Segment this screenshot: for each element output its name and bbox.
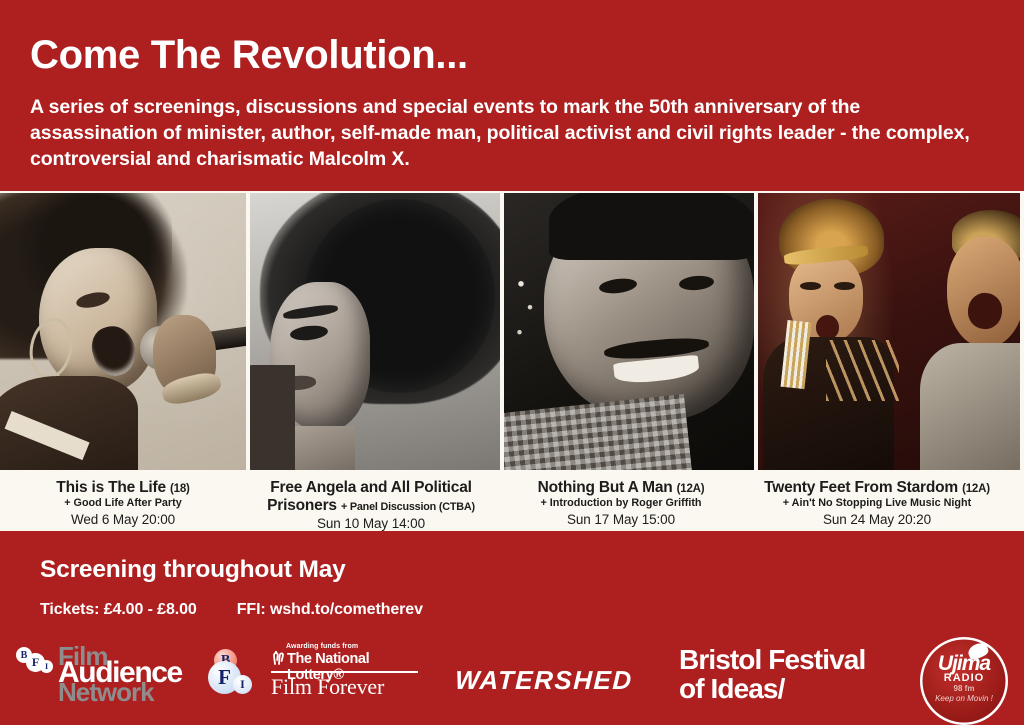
page-title: Come The Revolution...	[30, 34, 994, 76]
film-caption-4: Twenty Feet From Stardom (12A) + Ain't N…	[746, 479, 1008, 531]
bfi-blob-icon: B F I	[208, 649, 264, 699]
film-date-2: Sun 10 May 14:00	[252, 516, 490, 531]
film-extra-2: + Panel Discussion (CTBA)	[341, 501, 475, 513]
sponsor-logos: B F I Film Audience Network B F I Awardi…	[0, 637, 1024, 725]
bfi-blob-icon: B F I	[16, 647, 56, 675]
film-image-this-is-the-life[interactable]	[0, 193, 246, 470]
film-image-nothing-but-a-man[interactable]	[504, 193, 754, 470]
film-caption-2: Free Angela and All Political Prisoners …	[246, 479, 496, 531]
film-caption-3: Nothing But A Man (12A) + Introduction b…	[496, 479, 746, 531]
poster-footer: Screening throughout May Tickets: £4.00 …	[0, 531, 1024, 724]
film-certificate-4: (12A)	[962, 483, 990, 495]
film-images-row	[0, 191, 1024, 470]
fan-word-network: Network	[58, 679, 154, 705]
film-certificate-1: (18)	[170, 483, 190, 495]
film-strip: This is The Life (18) + Good Life After …	[0, 191, 1024, 531]
bfoi-line-2: of Ideas/	[679, 675, 865, 704]
film-extra-1: + Good Life After Party	[6, 497, 240, 510]
logo-bristol-festival-of-ideas[interactable]: Bristol Festival of Ideas/	[679, 646, 865, 704]
film-date-4: Sun 24 May 20:20	[752, 512, 1002, 527]
logo-ujima-radio[interactable]: Ujima RADIO 98 fm Keep on Movin !	[920, 637, 1008, 725]
photo-two-singers	[758, 193, 1020, 470]
page-subtitle: A series of screenings, discussions and …	[30, 95, 975, 173]
logo-watershed[interactable]: WATERSHED	[454, 665, 633, 696]
film-image-free-angela[interactable]	[250, 193, 500, 470]
logo-divider	[271, 671, 418, 673]
film-date-3: Sun 17 May 15:00	[502, 512, 740, 527]
film-date-1: Wed 6 May 20:00	[6, 512, 240, 527]
logo-bfi-film-audience-network[interactable]: B F I Film Audience Network	[16, 643, 196, 705]
ujima-slogan: Keep on Movin !	[926, 695, 1002, 703]
film-certificate-3: (12A)	[677, 483, 705, 495]
poster-root: Come The Revolution... A series of scree…	[0, 0, 1024, 724]
film-title-3: Nothing But A Man (12A)	[502, 479, 740, 496]
film-extra-3: + Introduction by Roger Griffith	[502, 497, 740, 510]
bfi-letter-i: I	[233, 675, 252, 694]
bfi-letter-i: I	[40, 660, 53, 673]
photo-smiling-man	[504, 193, 754, 470]
lottery-awarding-text: Awarding funds from	[286, 643, 358, 650]
screening-heading: Screening throughout May	[40, 556, 346, 584]
film-title-2: Free Angela and All Political Prisoners …	[252, 479, 490, 514]
poster-header: Come The Revolution... A series of scree…	[0, 0, 1024, 191]
further-info-link[interactable]: FFI: wshd.to/cometherev	[237, 601, 423, 619]
ticket-info-row: Tickets: £4.00 - £8.00 FFI: wshd.to/come…	[40, 601, 423, 619]
film-captions-row: This is The Life (18) + Good Life After …	[0, 470, 1024, 531]
film-title-1: This is The Life (18)	[6, 479, 240, 496]
ujima-name: Ujima	[928, 653, 1000, 674]
photo-angela-davis-portrait	[250, 193, 500, 470]
ticket-price: Tickets: £4.00 - £8.00	[40, 601, 197, 619]
photo-singer-with-microphone	[0, 193, 246, 470]
film-image-twenty-feet-from-stardom[interactable]	[758, 193, 1020, 470]
film-forever-wordmark: Film Forever	[271, 674, 384, 700]
film-caption-1: This is The Life (18) + Good Life After …	[0, 479, 246, 531]
film-title-4: Twenty Feet From Stardom (12A)	[752, 479, 1002, 496]
ujima-radio-word: RADIO	[928, 673, 1000, 684]
bfoi-line-1: Bristol Festival	[679, 646, 865, 675]
film-extra-4: + Ain't No Stopping Live Music Night	[752, 497, 1002, 510]
ujima-frequency: 98 fm	[928, 685, 1000, 693]
logo-bfi-film-forever[interactable]: B F I Awarding funds from The National L…	[208, 643, 418, 707]
